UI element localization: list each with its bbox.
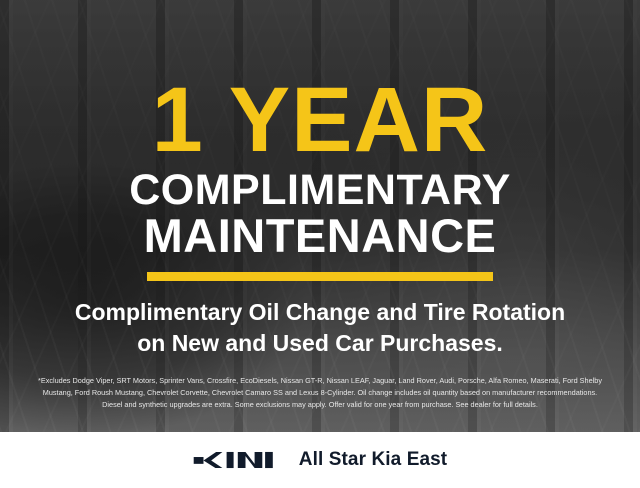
dealership-promo-ad: 1 YEAR COMPLIMENTARY MAINTENANCE Complim… xyxy=(0,0,640,488)
headline-secondary: COMPLIMENTARY xyxy=(129,169,511,213)
subheadline: Complimentary Oil Change and Tire Rotati… xyxy=(10,297,630,358)
disclaimer-line-3: Diesel and synthetic upgrades are extra.… xyxy=(8,399,632,411)
subheadline-line-1: Complimentary Oil Change and Tire Rotati… xyxy=(10,297,630,327)
disclaimer-line-1: *Excludes Dodge Viper, SRT Motors, Sprin… xyxy=(8,375,632,387)
disclaimer-line-2: Mustang, Ford Roush Mustang, Chevrolet C… xyxy=(8,387,632,399)
headline-primary: 1 YEAR xyxy=(152,78,489,163)
legal-disclaimer: *Excludes Dodge Viper, SRT Motors, Sprin… xyxy=(0,375,640,410)
subheadline-line-2: on New and Used Car Purchases. xyxy=(10,328,630,358)
kia-logo-icon xyxy=(193,449,277,471)
dealer-name: All Star Kia East xyxy=(299,449,447,471)
headline-tertiary: MAINTENANCE xyxy=(144,212,497,260)
hero-banner: 1 YEAR COMPLIMENTARY MAINTENANCE Complim… xyxy=(0,0,640,432)
hero-content: 1 YEAR COMPLIMENTARY MAINTENANCE Complim… xyxy=(0,0,640,432)
footer-bar: All Star Kia East xyxy=(0,432,640,488)
yellow-divider-rule xyxy=(147,272,493,281)
